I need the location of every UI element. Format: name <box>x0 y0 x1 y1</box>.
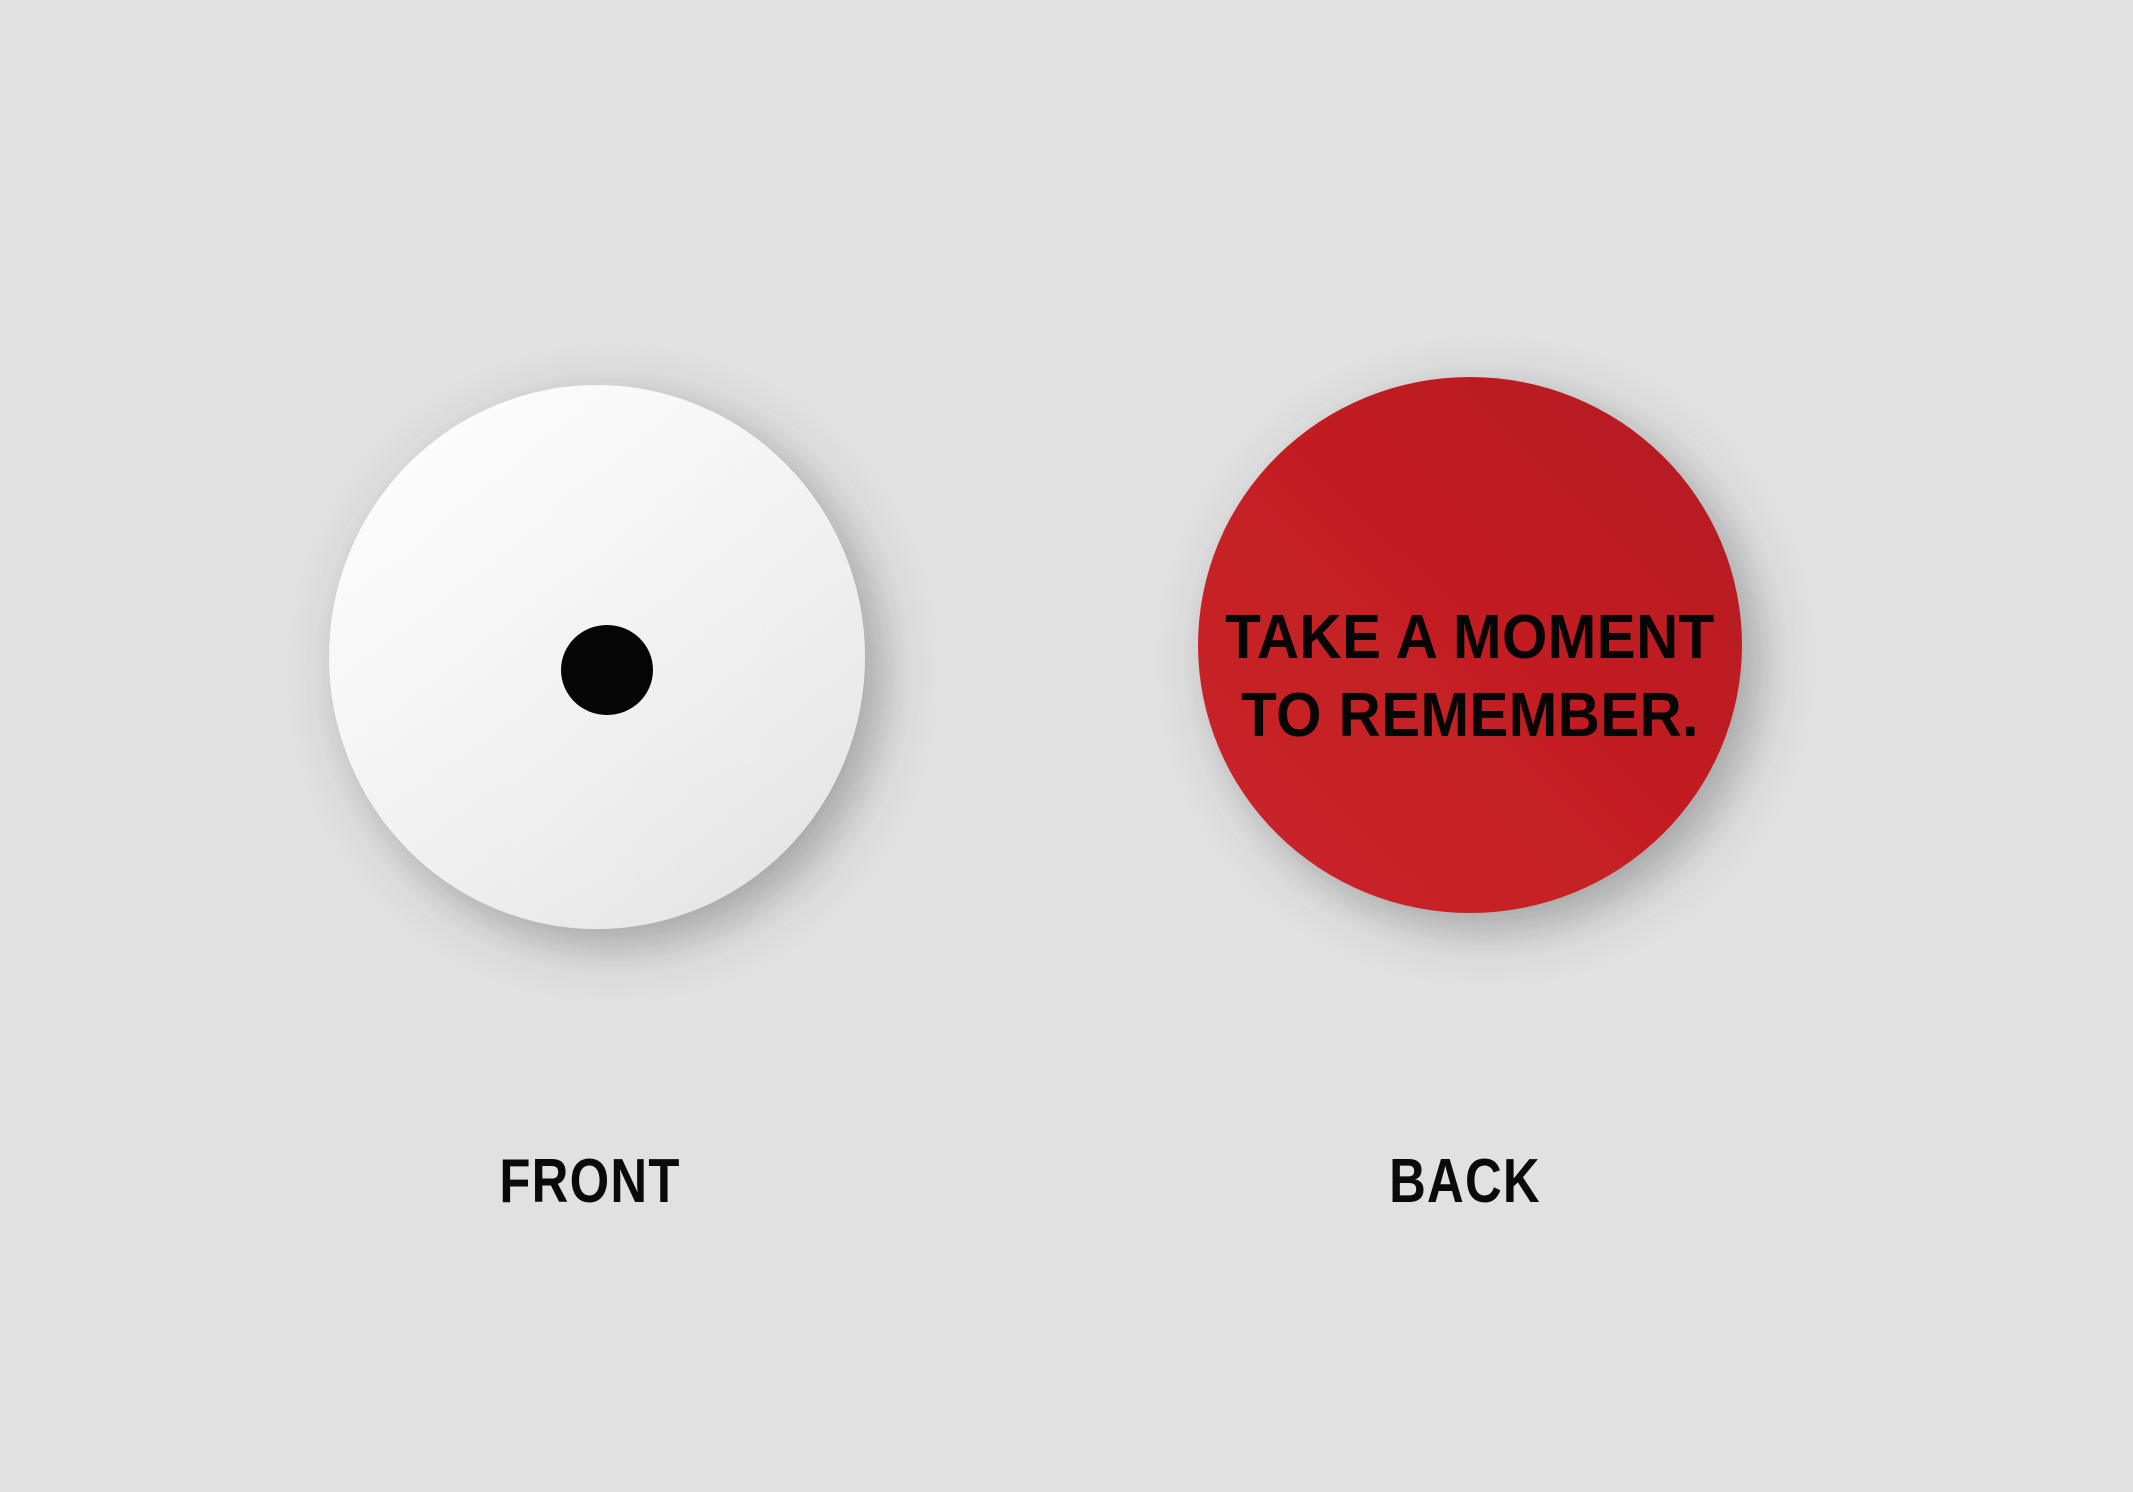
back-message-line2: TO REMEMBER. <box>1241 680 1699 749</box>
caption-back: BACK <box>1301 1146 1629 1217</box>
poppy-sticker-mockup-stage: TAKE A MOMENT TO REMEMBER. FRONT BACK <box>0 0 2133 1492</box>
caption-front: FRONT <box>426 1146 754 1217</box>
back-message-line1: TAKE A MOMENT <box>1225 602 1714 671</box>
front-poppy-center-dot <box>561 625 653 715</box>
sticker-artwork-canvas: TAKE A MOMENT TO REMEMBER. <box>0 0 2133 1492</box>
